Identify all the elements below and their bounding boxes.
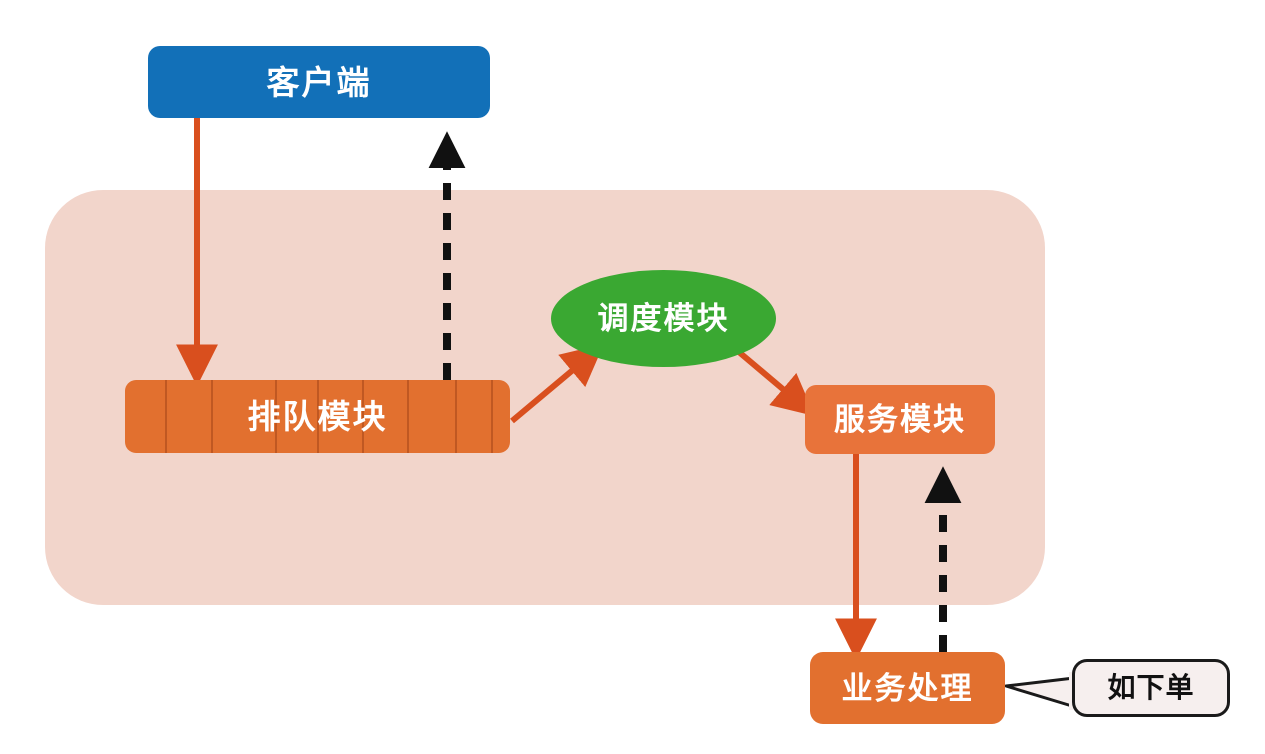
callout-note-label: 如下单 (1107, 674, 1194, 702)
queue-slot-divider-2 (211, 380, 213, 453)
diagram-canvas: 客户端 排队模块 调度模块 服务模块 业务处理 如下单 (0, 0, 1265, 754)
node-business-processing-label: 业务处理 (842, 673, 974, 704)
node-scheduler-module-label: 调度模块 (598, 303, 730, 334)
node-queue-module[interactable]: 排队模块 (125, 380, 510, 453)
node-service-module[interactable]: 服务模块 (805, 385, 995, 454)
callout-note[interactable]: 如下单 (1072, 659, 1230, 717)
queue-slot-divider-6 (407, 380, 409, 453)
node-scheduler-module[interactable]: 调度模块 (551, 270, 776, 367)
node-client[interactable]: 客户端 (148, 46, 490, 118)
queue-slot-divider-7 (455, 380, 457, 453)
edge-callout-tail (1006, 672, 1079, 710)
node-client-label: 客户端 (267, 66, 372, 99)
node-queue-module-label: 排队模块 (248, 400, 388, 433)
queue-slot-divider-1 (165, 380, 167, 453)
node-business-processing[interactable]: 业务处理 (810, 652, 1005, 724)
queue-slot-divider-8 (491, 380, 493, 453)
node-service-module-label: 服务模块 (834, 404, 966, 435)
